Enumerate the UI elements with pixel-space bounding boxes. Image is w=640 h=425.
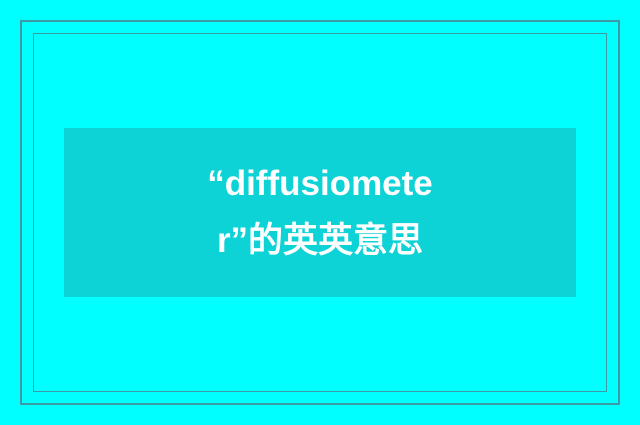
- title-card-canvas: “diffusiometer”的英英意思: [0, 0, 640, 425]
- content-card: “diffusiometer”的英英意思: [64, 128, 576, 297]
- page-title: “diffusiometer”的英英意思: [189, 156, 451, 269]
